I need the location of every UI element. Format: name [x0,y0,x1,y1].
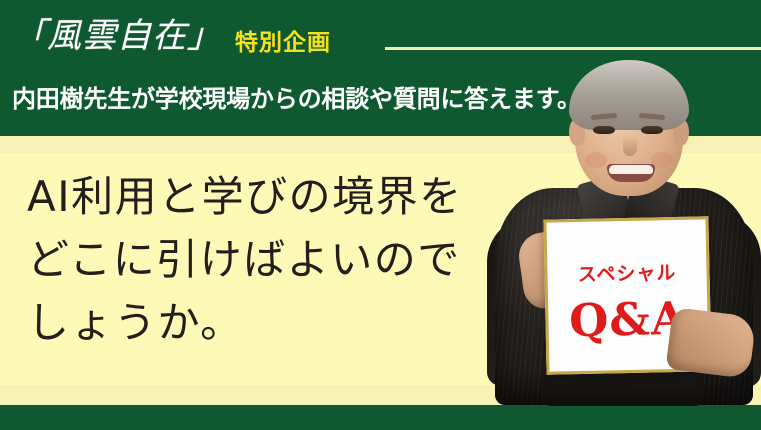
eye-left [593,126,615,134]
hair [569,60,689,130]
header-divider-rule [385,47,761,50]
teeth [609,165,653,174]
article-banner: 「風雲自在」 特別企画 内田樹先生が学校現場からの相談や質問に答えます。 AI利… [0,0,761,430]
author-photo: スペシャル Q&A [487,66,761,405]
eye-right [641,126,663,134]
headline-line-3: しょうか。 [27,291,463,354]
sign-special-text: スペシャル [547,257,707,287]
series-title: 「風雲自在」 [12,14,222,58]
special-feature-label: 特別企画 [235,28,331,56]
headline: AI利用と学びの境界を どこに引けばよいので しょうか。 [27,165,463,354]
footer-background-band [0,405,761,430]
headline-line-1: AI利用と学びの境界を [27,165,463,228]
headline-line-2: どこに引けばよいので [27,228,463,291]
nose [623,136,637,156]
cheek-left [585,152,607,168]
